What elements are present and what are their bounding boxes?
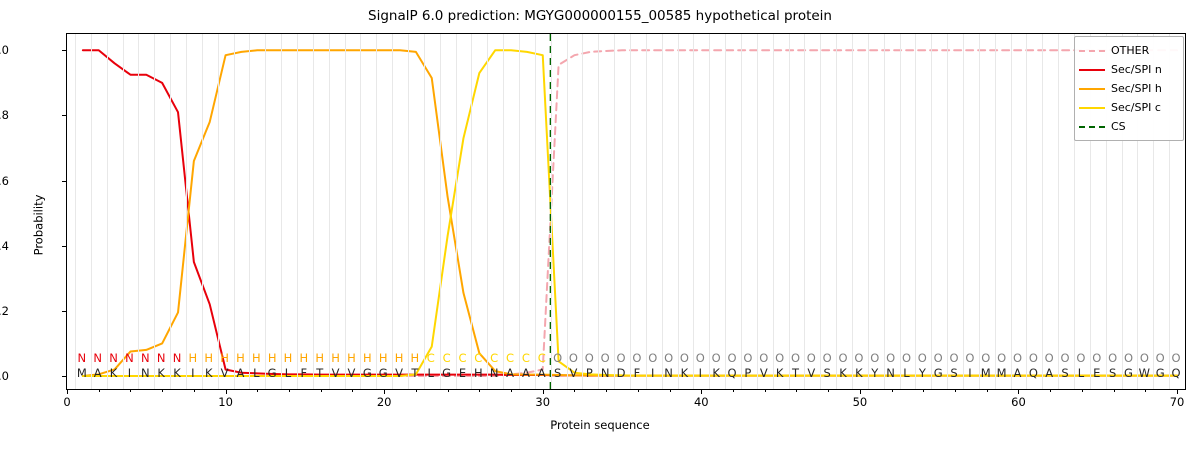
region-letter: C: [538, 351, 546, 365]
sequence-letter: N: [664, 366, 673, 380]
x-tick-label: 70: [1170, 395, 1185, 409]
legend: OTHERSec/SPI nSec/SPI hSec/SPI cCS: [1074, 36, 1184, 141]
grid-line: [884, 34, 885, 389]
x-minor-tick: [448, 390, 449, 392]
sequence-letter: K: [776, 366, 784, 380]
x-minor-tick: [511, 390, 512, 392]
grid-line: [868, 34, 869, 389]
grid-line: [186, 34, 187, 389]
x-minor-tick: [194, 390, 195, 392]
grid-line: [551, 34, 552, 389]
region-letter: O: [712, 351, 721, 365]
sequence-letter: K: [157, 366, 165, 380]
x-axis-label: Protein sequence: [0, 418, 1200, 432]
sequence-letter: I: [699, 366, 702, 380]
sequence-letter: H: [474, 366, 483, 380]
sequence-letter: V: [570, 366, 578, 380]
region-letter: O: [696, 351, 705, 365]
region-letter: O: [601, 351, 610, 365]
x-minor-tick: [416, 390, 417, 392]
region-letter: O: [1076, 351, 1085, 365]
sequence-letter: V: [348, 366, 356, 380]
sequence-letter: I: [968, 366, 971, 380]
sequence-letter: W: [1139, 366, 1150, 380]
grid-line: [170, 34, 171, 389]
sequence-letter: N: [886, 366, 895, 380]
sequence-letter: G: [1156, 366, 1165, 380]
region-letter: H: [284, 351, 293, 365]
sequence-letter: T: [316, 366, 323, 380]
region-letter: N: [93, 351, 102, 365]
grid-line: [249, 34, 250, 389]
sequence-letter: D: [617, 366, 626, 380]
grid-line: [789, 34, 790, 389]
grid-line: [693, 34, 694, 389]
grid-line: [265, 34, 266, 389]
legend-item: Sec/SPI c: [1079, 98, 1178, 117]
sequence-letter: S: [1109, 366, 1116, 380]
region-letter: O: [950, 351, 959, 365]
region-letter: H: [395, 351, 404, 365]
legend-label: OTHER: [1111, 44, 1149, 57]
grid-line: [154, 34, 155, 389]
x-minor-tick: [733, 390, 734, 392]
grid-line: [218, 34, 219, 389]
sequence-letter: G: [934, 366, 943, 380]
region-letter: O: [632, 351, 641, 365]
grid-line: [91, 34, 92, 389]
x-tick-label: 50: [853, 395, 868, 409]
region-letter: O: [664, 351, 673, 365]
region-letter: O: [1092, 351, 1101, 365]
grid-line: [440, 34, 441, 389]
grid-line: [281, 34, 282, 389]
region-letter: O: [918, 351, 927, 365]
y-tick-label: 0.6: [0, 174, 9, 188]
legend-label: CS: [1111, 120, 1126, 133]
sequence-letter: K: [173, 366, 181, 380]
x-minor-tick: [1114, 390, 1115, 392]
region-letter: H: [268, 351, 277, 365]
x-tick-mark: [226, 390, 227, 394]
region-letter: O: [870, 351, 879, 365]
region-letter: N: [141, 351, 150, 365]
grid-line: [1026, 34, 1027, 389]
sequence-letter: L: [285, 366, 291, 380]
region-letter: O: [569, 351, 578, 365]
sequence-letter: G: [379, 366, 388, 380]
sequence-letter: M: [981, 366, 991, 380]
region-letter: O: [791, 351, 800, 365]
grid-line: [297, 34, 298, 389]
sequence-letter: K: [110, 366, 118, 380]
region-letter: C: [427, 351, 435, 365]
x-minor-tick: [99, 390, 100, 392]
x-minor-tick: [828, 390, 829, 392]
grid-line: [804, 34, 805, 389]
region-letter: N: [157, 351, 166, 365]
grid-line: [345, 34, 346, 389]
region-letter: O: [1013, 351, 1022, 365]
region-letter: O: [775, 351, 784, 365]
sequence-letter: N: [601, 366, 610, 380]
x-minor-tick: [955, 390, 956, 392]
sequence-letter: I: [128, 366, 131, 380]
grid-line: [360, 34, 361, 389]
x-minor-tick: [670, 390, 671, 392]
sequence-letter: Q: [1172, 366, 1181, 380]
grid-line: [678, 34, 679, 389]
sequence-letter: Y: [871, 366, 878, 380]
region-letter: O: [1045, 351, 1054, 365]
sequence-letter: K: [839, 366, 847, 380]
grid-line: [313, 34, 314, 389]
x-minor-tick: [765, 390, 766, 392]
sequence-letter: V: [332, 366, 340, 380]
grid-line: [567, 34, 568, 389]
region-letter: O: [1140, 351, 1149, 365]
region-letter: H: [411, 351, 420, 365]
grid-line: [487, 34, 488, 389]
grid-line: [582, 34, 583, 389]
region-letter: H: [379, 351, 388, 365]
x-tick-label: 40: [694, 395, 709, 409]
x-minor-tick: [1145, 390, 1146, 392]
sequence-letter: S: [950, 366, 957, 380]
x-tick-mark: [543, 390, 544, 394]
sequence-letter: V: [395, 366, 403, 380]
x-tick-label: 0: [63, 395, 70, 409]
grid-line: [963, 34, 964, 389]
sequence-letter: T: [792, 366, 799, 380]
region-letter: H: [315, 351, 324, 365]
sequence-letter: E: [1093, 366, 1100, 380]
protein-sequence-row: MAKINKKIKVALGLFTVVGGVTLGEHNAAASVPNDFINKI…: [66, 366, 1186, 383]
region-letter: O: [1124, 351, 1133, 365]
region-letter: O: [902, 351, 911, 365]
y-tick-label: 1.0: [0, 43, 9, 57]
grid-line: [725, 34, 726, 389]
sequence-letter: G: [268, 366, 277, 380]
grid-line: [456, 34, 457, 389]
grid-line: [741, 34, 742, 389]
region-letter: N: [125, 351, 134, 365]
grid-line: [75, 34, 76, 389]
x-tick-mark: [701, 390, 702, 394]
plot-canvas: [67, 34, 1185, 389]
region-letter: H: [252, 351, 261, 365]
x-minor-tick: [892, 390, 893, 392]
sequence-letter: V: [807, 366, 815, 380]
grid-line: [915, 34, 916, 389]
prediction-curves: [67, 34, 1185, 389]
grid-line: [709, 34, 710, 389]
sequence-letter: Q: [1029, 366, 1038, 380]
signalp-prediction-figure: SignalP 6.0 prediction: MGYG000000155_00…: [0, 0, 1200, 450]
region-letter: H: [236, 351, 245, 365]
region-letter: N: [78, 351, 87, 365]
x-minor-tick: [987, 390, 988, 392]
grid-line: [931, 34, 932, 389]
grid-line: [535, 34, 536, 389]
page-title: SignalP 6.0 prediction: MGYG000000155_00…: [0, 8, 1200, 24]
x-tick-label: 20: [377, 395, 392, 409]
x-tick-mark: [1018, 390, 1019, 394]
region-letter: O: [807, 351, 816, 365]
grid-line: [614, 34, 615, 389]
legend-item: Sec/SPI n: [1079, 60, 1178, 79]
region-letter: O: [854, 351, 863, 365]
sequence-letter: A: [506, 366, 514, 380]
region-letter: O: [1108, 351, 1117, 365]
grid-line: [107, 34, 108, 389]
x-minor-tick: [1082, 390, 1083, 392]
x-minor-tick: [289, 390, 290, 392]
grid-line: [1042, 34, 1043, 389]
region-letter: O: [981, 351, 990, 365]
legend-label: Sec/SPI n: [1111, 63, 1162, 76]
legend-label: Sec/SPI h: [1111, 82, 1162, 95]
grid-line: [757, 34, 758, 389]
region-letter: O: [728, 351, 737, 365]
legend-swatch: [1079, 107, 1105, 109]
grid-line: [900, 34, 901, 389]
grid-line: [376, 34, 377, 389]
x-tick-mark: [1177, 390, 1178, 394]
sequence-letter: G: [442, 366, 451, 380]
region-letter: H: [300, 351, 309, 365]
region-letter: H: [204, 351, 213, 365]
y-tick-label: 0.8: [0, 108, 9, 122]
sequence-letter: A: [538, 366, 546, 380]
region-letter: C: [490, 351, 498, 365]
grid-line: [234, 34, 235, 389]
legend-swatch: [1079, 126, 1105, 128]
grid-line: [202, 34, 203, 389]
sequence-letter: T: [411, 366, 418, 380]
grid-line: [1011, 34, 1012, 389]
grid-line: [329, 34, 330, 389]
region-letter: O: [680, 351, 689, 365]
x-tick-mark: [384, 390, 385, 394]
x-minor-tick: [257, 390, 258, 392]
sequence-letter: A: [522, 366, 530, 380]
sequence-letter: L: [1078, 366, 1084, 380]
sequence-letter: I: [651, 366, 654, 380]
region-letter: O: [965, 351, 974, 365]
grid-line: [408, 34, 409, 389]
x-minor-tick: [321, 390, 322, 392]
grid-line: [138, 34, 139, 389]
region-letter: C: [443, 351, 451, 365]
sequence-letter: A: [237, 366, 245, 380]
legend-swatch: [1079, 88, 1105, 90]
region-letter: O: [1061, 351, 1070, 365]
grid-line: [1058, 34, 1059, 389]
sequence-letter: N: [141, 366, 150, 380]
sequence-letter: L: [428, 366, 434, 380]
grid-line: [979, 34, 980, 389]
sequence-letter: M: [997, 366, 1007, 380]
sequence-letter: S: [554, 366, 561, 380]
sequence-letter: A: [94, 366, 102, 380]
region-letter: O: [743, 351, 752, 365]
grid-line: [503, 34, 504, 389]
sequence-letter: Y: [919, 366, 926, 380]
sequence-letter: G: [363, 366, 372, 380]
legend-item: CS: [1079, 117, 1178, 136]
x-minor-tick: [574, 390, 575, 392]
sequence-letter: E: [459, 366, 466, 380]
grid-line: [852, 34, 853, 389]
region-letter: O: [585, 351, 594, 365]
x-minor-tick: [162, 390, 163, 392]
x-minor-tick: [638, 390, 639, 392]
y-tick-label: 0.2: [0, 304, 9, 318]
region-letter: C: [506, 351, 514, 365]
grid-line: [995, 34, 996, 389]
region-letter: O: [839, 351, 848, 365]
sequence-letter: K: [712, 366, 720, 380]
x-minor-tick: [923, 390, 924, 392]
x-tick-label: 30: [535, 395, 550, 409]
legend-item: Sec/SPI h: [1079, 79, 1178, 98]
sequence-letter: Q: [728, 366, 737, 380]
sequence-letter: F: [301, 366, 308, 380]
grid-line: [471, 34, 472, 389]
x-tick-label: 60: [1011, 395, 1026, 409]
region-letter: H: [331, 351, 340, 365]
grid-line: [630, 34, 631, 389]
region-letter: C: [522, 351, 530, 365]
region-annotation-row: NNNNNNNHHHHHHHHHHHHHHHCCCCCCCCOOOOOOOOOO…: [66, 351, 1186, 366]
region-letter: O: [617, 351, 626, 365]
x-tick-mark: [860, 390, 861, 394]
region-letter: O: [759, 351, 768, 365]
region-letter: O: [934, 351, 943, 365]
sequence-letter: N: [490, 366, 499, 380]
legend-swatch: [1079, 69, 1105, 71]
region-letter: O: [553, 351, 562, 365]
sequence-letter: V: [760, 366, 768, 380]
region-letter: O: [1029, 351, 1038, 365]
grid-line: [820, 34, 821, 389]
grid-line: [123, 34, 124, 389]
sequence-letter: K: [855, 366, 863, 380]
grid-line: [836, 34, 837, 389]
region-letter: H: [220, 351, 229, 365]
x-minor-tick: [130, 390, 131, 392]
x-minor-tick: [1050, 390, 1051, 392]
sequence-letter: G: [1124, 366, 1133, 380]
sequence-letter: M: [77, 366, 87, 380]
sequence-letter: F: [634, 366, 641, 380]
grid-line: [662, 34, 663, 389]
sequence-letter: P: [744, 366, 751, 380]
region-letter: H: [189, 351, 198, 365]
grid-line: [947, 34, 948, 389]
region-letter: H: [363, 351, 372, 365]
legend-label: Sec/SPI c: [1111, 101, 1161, 114]
grid-line: [392, 34, 393, 389]
region-letter: O: [823, 351, 832, 365]
grid-line: [646, 34, 647, 389]
x-minor-tick: [796, 390, 797, 392]
region-letter: O: [1156, 351, 1165, 365]
sequence-letter: A: [1014, 366, 1022, 380]
region-letter: C: [474, 351, 482, 365]
grid-line: [519, 34, 520, 389]
grid-line: [598, 34, 599, 389]
region-letter: C: [458, 351, 466, 365]
region-letter: O: [648, 351, 657, 365]
region-letter: N: [173, 351, 182, 365]
sequence-letter: L: [903, 366, 909, 380]
sequence-letter: S: [1061, 366, 1068, 380]
x-minor-tick: [352, 390, 353, 392]
region-letter: O: [886, 351, 895, 365]
region-letter: O: [1172, 351, 1181, 365]
x-tick-mark: [67, 390, 68, 394]
region-letter: H: [347, 351, 356, 365]
x-minor-tick: [606, 390, 607, 392]
y-axis-label: Probability: [31, 195, 45, 256]
y-tick-label: 0.4: [0, 239, 9, 253]
sequence-letter: A: [1045, 366, 1053, 380]
grid-line: [773, 34, 774, 389]
sequence-letter: K: [681, 366, 689, 380]
x-minor-tick: [479, 390, 480, 392]
plot-area: [66, 33, 1186, 390]
sequence-letter: K: [205, 366, 213, 380]
grid-line: [424, 34, 425, 389]
sequence-letter: L: [253, 366, 259, 380]
legend-swatch: [1079, 50, 1105, 52]
region-letter: N: [109, 351, 118, 365]
y-tick-label: 0.0: [0, 369, 9, 383]
legend-item: OTHER: [1079, 41, 1178, 60]
region-letter: O: [997, 351, 1006, 365]
sequence-letter: P: [586, 366, 593, 380]
sequence-letter: V: [221, 366, 229, 380]
sequence-letter: S: [824, 366, 831, 380]
x-tick-label: 10: [218, 395, 233, 409]
sequence-letter: I: [191, 366, 194, 380]
